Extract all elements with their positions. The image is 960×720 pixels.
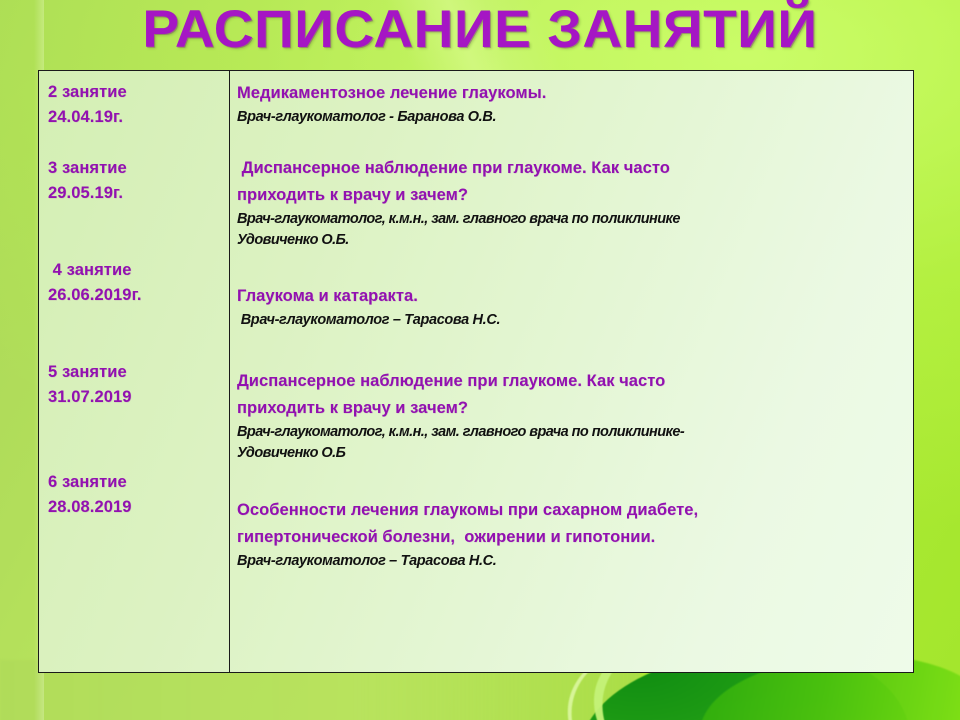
topic-doctor-name: Врач-глаукоматолог, к.м.н., зам. главног… <box>237 209 913 251</box>
session-cell: 4 занятие 26.06.2019г. <box>48 258 229 308</box>
session-number: 5 занятие <box>48 360 229 385</box>
schedule-topics-column: Медикаментозное лечение глаукомы. Врач-г… <box>230 71 913 672</box>
topic-title: Диспансерное наблюдение при глаукоме. Ка… <box>237 155 913 209</box>
schedule-table: 2 занятие 24.04.19г. 3 занятие 29.05.19г… <box>38 70 914 673</box>
session-cell: 3 занятие 29.05.19г. <box>48 156 229 206</box>
session-number: 6 занятие <box>48 470 229 495</box>
session-date: 26.06.2019г. <box>48 283 229 308</box>
session-date: 31.07.2019 <box>48 385 229 410</box>
topic-title: Глаукома и катаракта. <box>237 283 913 310</box>
session-number: 4 занятие <box>48 258 229 283</box>
session-date: 28.08.2019 <box>48 495 229 520</box>
topic-title: Особенности лечения глаукомы при сахарно… <box>237 497 913 551</box>
session-date: 29.05.19г. <box>48 181 229 206</box>
slide-canvas: РАСПИСАНИЕ ЗАНЯТИЙ 2 занятие 24.04.19г. … <box>0 0 960 720</box>
topic-title: Диспансерное наблюдение при глаукоме. Ка… <box>237 368 913 422</box>
session-date: 24.04.19г. <box>48 105 229 130</box>
session-cell: 2 занятие 24.04.19г. <box>48 80 229 130</box>
topic-doctor-name: Врач-глаукоматолог – Тарасова Н.С. <box>237 551 913 572</box>
session-number: 2 занятие <box>48 80 229 105</box>
topic-cell: Диспансерное наблюдение при глаукоме. Ка… <box>237 368 913 464</box>
topic-doctor-name: Врач-глаукоматолог - Баранова О.В. <box>237 107 913 128</box>
topic-doctor-name: Врач-глаукоматолог – Тарасова Н.С. <box>237 310 913 331</box>
topic-title: Медикаментозное лечение глаукомы. <box>237 80 913 107</box>
topic-cell: Глаукома и катаракта. Врач-глаукоматолог… <box>237 283 913 331</box>
session-cell: 6 занятие 28.08.2019 <box>48 470 229 520</box>
topic-cell: Диспансерное наблюдение при глаукоме. Ка… <box>237 155 913 251</box>
session-cell: 5 занятие 31.07.2019 <box>48 360 229 410</box>
topic-cell: Особенности лечения глаукомы при сахарно… <box>237 497 913 572</box>
topic-doctor-name: Врач-глаукоматолог, к.м.н., зам. главног… <box>237 422 913 464</box>
topic-cell: Медикаментозное лечение глаукомы. Врач-г… <box>237 80 913 128</box>
session-number: 3 занятие <box>48 156 229 181</box>
schedule-sessions-column: 2 занятие 24.04.19г. 3 занятие 29.05.19г… <box>39 71 230 672</box>
page-title: РАСПИСАНИЕ ЗАНЯТИЙ <box>0 0 960 62</box>
